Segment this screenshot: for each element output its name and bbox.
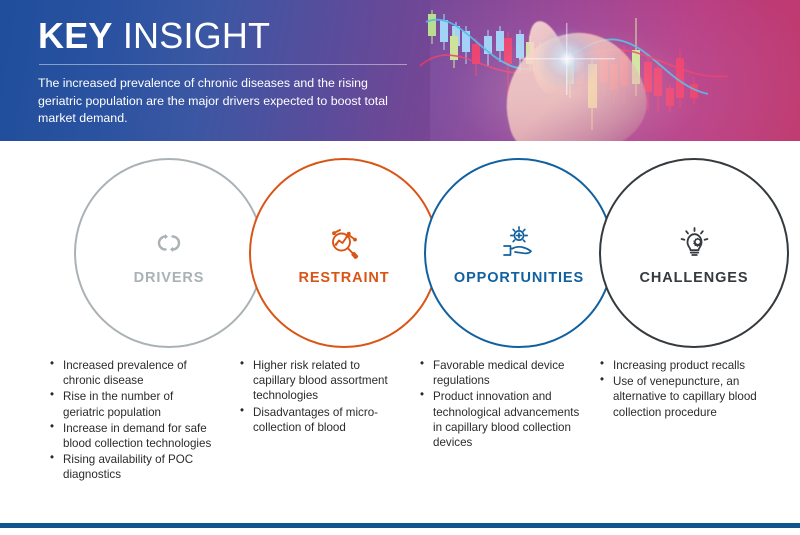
lightbulb-gear-icon (677, 226, 711, 260)
bullet-list-drivers: Increased prevalence of chronic disease … (50, 358, 215, 483)
bullet-column-restraint: Higher risk related to capillary blood a… (240, 358, 405, 436)
bullet-list-challenges: Increasing product recalls Use of venepu… (600, 358, 768, 420)
stage-label-opportunities: OPPORTUNITIES (454, 270, 584, 286)
stage-flow: DRIVERS (0, 141, 800, 346)
list-item: Increased prevalence of chronic disease (50, 358, 215, 388)
list-item: Higher risk related to capillary blood a… (240, 358, 405, 404)
header-text-block: KEY INSIGHT The increased prevalence of … (38, 14, 418, 128)
page-title: KEY INSIGHT (38, 14, 418, 58)
bullet-list-opportunities: Favorable medical device regulations Pro… (420, 358, 585, 450)
touch-spark-icon (530, 22, 604, 96)
list-item: Increasing product recalls (600, 358, 768, 373)
list-item: Disadvantages of micro-collection of blo… (240, 405, 405, 435)
recycle-arrows-icon (152, 230, 186, 256)
list-item: Product innovation and technological adv… (420, 389, 585, 450)
challenges-icon-wrap (677, 220, 711, 266)
magnifier-chart-icon (326, 226, 362, 260)
stage-label-drivers: DRIVERS (134, 270, 205, 286)
stage-circle-challenges[interactable]: CHALLENGES (599, 158, 789, 348)
bullet-lists: Increased prevalence of chronic disease … (0, 358, 800, 508)
list-item: Increase in demand for safe blood collec… (50, 421, 215, 451)
stage-circle-opportunities[interactable]: OPPORTUNITIES (424, 158, 614, 348)
header-artwork (408, 0, 800, 141)
page-title-bold: KEY (38, 15, 113, 56)
opportunities-icon-wrap (500, 220, 538, 266)
header-banner: KEY INSIGHT The increased prevalence of … (0, 0, 800, 141)
footer-padding (0, 528, 800, 535)
stage-circle-restraint[interactable]: RESTRAINT (249, 158, 439, 348)
bullet-column-opportunities: Favorable medical device regulations Pro… (420, 358, 585, 451)
list-item: Rise in the number of geriatric populati… (50, 389, 215, 419)
bullet-column-challenges: Increasing product recalls Use of venepu… (600, 358, 768, 421)
stage-label-challenges: CHALLENGES (640, 270, 749, 286)
restraint-icon-wrap (326, 220, 362, 266)
bullet-list-restraint: Higher risk related to capillary blood a… (240, 358, 405, 435)
drivers-icon-wrap (152, 220, 186, 266)
list-item: Use of venepuncture, an alternative to c… (600, 374, 768, 420)
stage-label-restraint: RESTRAINT (298, 270, 389, 286)
stage-circle-drivers[interactable]: DRIVERS (74, 158, 264, 348)
page-title-light: INSIGHT (113, 15, 271, 56)
header-subtitle: The increased prevalence of chronic dise… (38, 75, 410, 128)
hand-holding-medical-sun-icon (500, 226, 538, 260)
title-divider (39, 64, 407, 65)
list-item: Favorable medical device regulations (420, 358, 585, 388)
bullet-column-drivers: Increased prevalence of chronic disease … (50, 358, 215, 484)
infographic-page: KEY INSIGHT The increased prevalence of … (0, 0, 800, 535)
list-item: Rising availability of POC diagnostics (50, 452, 215, 482)
